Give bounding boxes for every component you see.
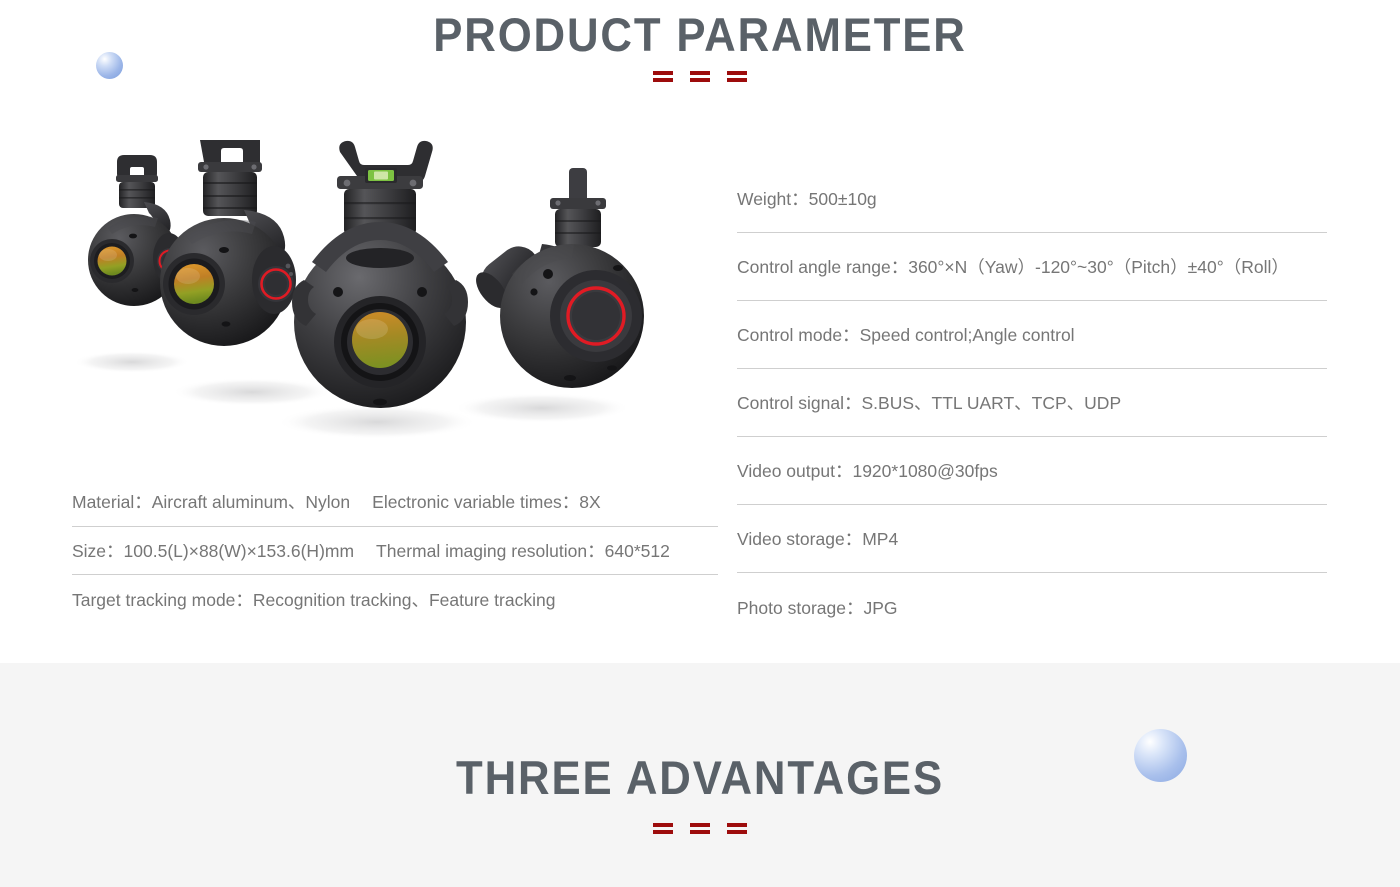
spec-value: Aircraft aluminum、Nylon <box>152 492 350 512</box>
spec-label: Weight： <box>737 189 809 209</box>
title-ornament-bottom <box>0 823 1400 834</box>
spec-pair: Video output：1920*1080@30fps <box>737 458 998 483</box>
page-title: PRODUCT PARAMETER <box>49 7 1351 62</box>
spec-row: Target tracking mode：Recognition trackin… <box>72 575 718 624</box>
spec-row: Control angle range：360°×N（Yaw）-120°~30°… <box>737 233 1327 301</box>
spec-table-right: Weight：500±10gControl angle range：360°×N… <box>737 165 1327 641</box>
spec-value: 100.5(L)×88(W)×153.6(H)mm <box>124 541 355 561</box>
spec-label: Thermal imaging resolution： <box>376 541 605 561</box>
equals-ornament-icon <box>690 71 710 82</box>
spec-label: Photo storage： <box>737 598 863 618</box>
spec-row: Weight：500±10g <box>737 165 1327 233</box>
spec-value: MP4 <box>862 529 898 549</box>
spec-label: Control angle range： <box>737 257 908 277</box>
spec-pair: Electronic variable times：8X <box>372 489 601 514</box>
spec-value: 640*512 <box>605 541 670 561</box>
equals-ornament-icon <box>690 823 710 834</box>
spec-row: Control mode：Speed control;Angle control <box>737 301 1327 369</box>
equals-ornament-icon <box>653 71 673 82</box>
spec-value: JPG <box>863 598 897 618</box>
title-ornament-top <box>0 71 1400 82</box>
spec-pair: Control mode：Speed control;Angle control <box>737 322 1075 347</box>
spec-pair: Photo storage：JPG <box>737 595 898 620</box>
spec-pair: Control signal：S.BUS、TTL UART、TCP、UDP <box>737 390 1121 415</box>
spec-pair: Control angle range：360°×N（Yaw）-120°~30°… <box>737 254 1289 279</box>
spec-value: Recognition tracking、Feature tracking <box>253 590 556 610</box>
spec-row: Video storage：MP4 <box>737 505 1327 573</box>
spec-label: Material： <box>72 492 152 512</box>
spec-label: Size： <box>72 541 124 561</box>
spec-pair: Video storage：MP4 <box>737 526 898 551</box>
spec-row: Video output：1920*1080@30fps <box>737 437 1327 505</box>
product-parameter-page: PRODUCT PARAMETER <box>0 0 1400 887</box>
spec-label: Control signal： <box>737 393 862 413</box>
spec-label: Electronic variable times： <box>372 492 579 512</box>
spec-row: Size：100.5(L)×88(W)×153.6(H)mmThermal im… <box>72 527 718 576</box>
equals-ornament-icon <box>727 823 747 834</box>
spec-row: Photo storage：JPG <box>737 573 1327 641</box>
spec-pair: Target tracking mode：Recognition trackin… <box>72 587 555 612</box>
section-title-advantages: THREE ADVANTAGES <box>49 750 1351 805</box>
equals-ornament-icon <box>653 823 673 834</box>
spec-value: 360°×N（Yaw）-120°~30°（Pitch）±40°（Roll） <box>908 257 1289 277</box>
spec-value: 1920*1080@30fps <box>852 461 997 481</box>
spec-value: S.BUS、TTL UART、TCP、UDP <box>862 393 1122 413</box>
blue-sphere-icon <box>96 52 123 79</box>
spec-pair: Material：Aircraft aluminum、Nylon <box>72 489 350 514</box>
equals-ornament-icon <box>727 71 747 82</box>
spec-label: Video output： <box>737 461 852 481</box>
spec-table-left: Material：Aircraft aluminum、NylonElectron… <box>72 478 718 624</box>
spec-label: Target tracking mode： <box>72 590 253 610</box>
spec-value: Speed control;Angle control <box>860 325 1075 345</box>
spec-value: 500±10g <box>809 189 877 209</box>
spec-label: Control mode： <box>737 325 860 345</box>
spec-row: Material：Aircraft aluminum、NylonElectron… <box>72 478 718 527</box>
spec-row: Control signal：S.BUS、TTL UART、TCP、UDP <box>737 369 1327 437</box>
spec-pair: Size：100.5(L)×88(W)×153.6(H)mm <box>72 538 354 563</box>
product-image <box>72 140 722 450</box>
spec-label: Video storage： <box>737 529 862 549</box>
spec-value: 8X <box>579 492 600 512</box>
spec-pair: Thermal imaging resolution：640*512 <box>376 538 670 563</box>
spec-pair: Weight：500±10g <box>737 186 877 211</box>
